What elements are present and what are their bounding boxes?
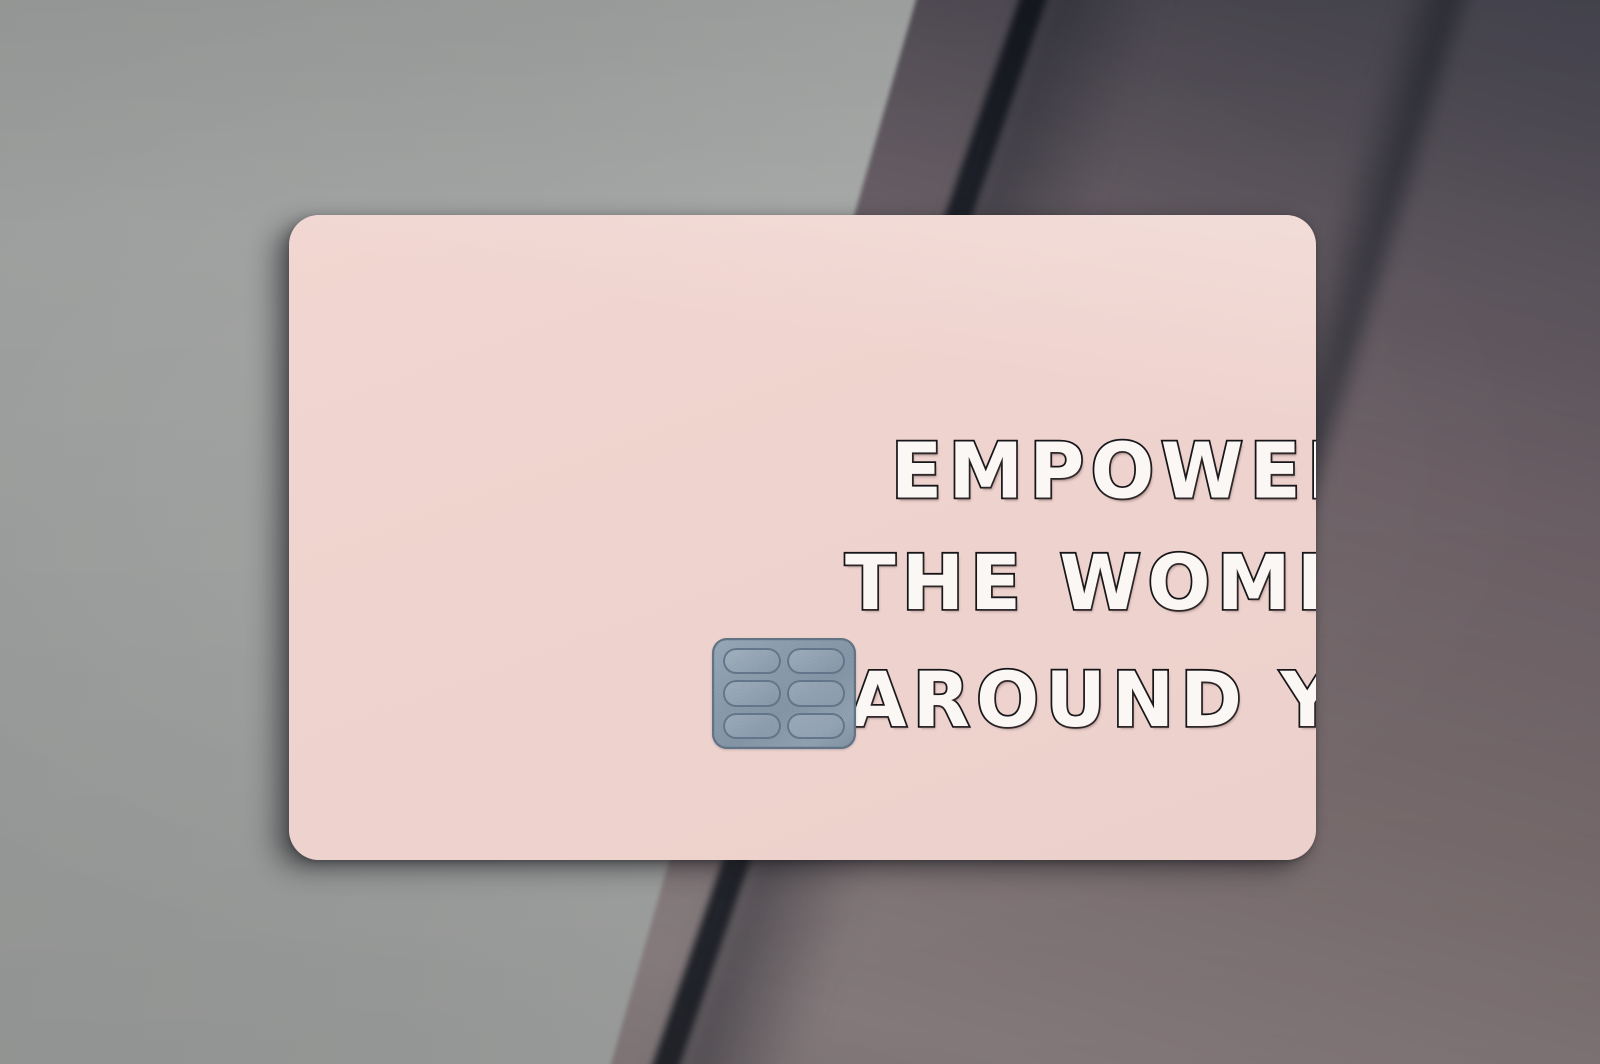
chip-pad-5 (723, 713, 781, 739)
card-face: EMPOWER THE WOMEN AROUND YOU (289, 215, 1316, 860)
chip-pad-3 (723, 680, 781, 706)
credit-card[interactable]: EMPOWER THE WOMEN AROUND YOU (289, 215, 1316, 860)
chip-pad-2 (787, 648, 845, 674)
screenshot-stage: EMPOWER THE WOMEN AROUND YOU (0, 0, 1600, 1064)
slogan-line-2: THE WOMEN (845, 545, 1316, 621)
emv-chip-icon (712, 638, 856, 749)
chip-pad-1 (723, 648, 781, 674)
slogan-line-3: AROUND YOU (849, 662, 1316, 738)
chip-pad-6 (787, 713, 845, 739)
slogan-line-1: EMPOWER (891, 433, 1316, 509)
chip-pad-4 (787, 680, 845, 706)
